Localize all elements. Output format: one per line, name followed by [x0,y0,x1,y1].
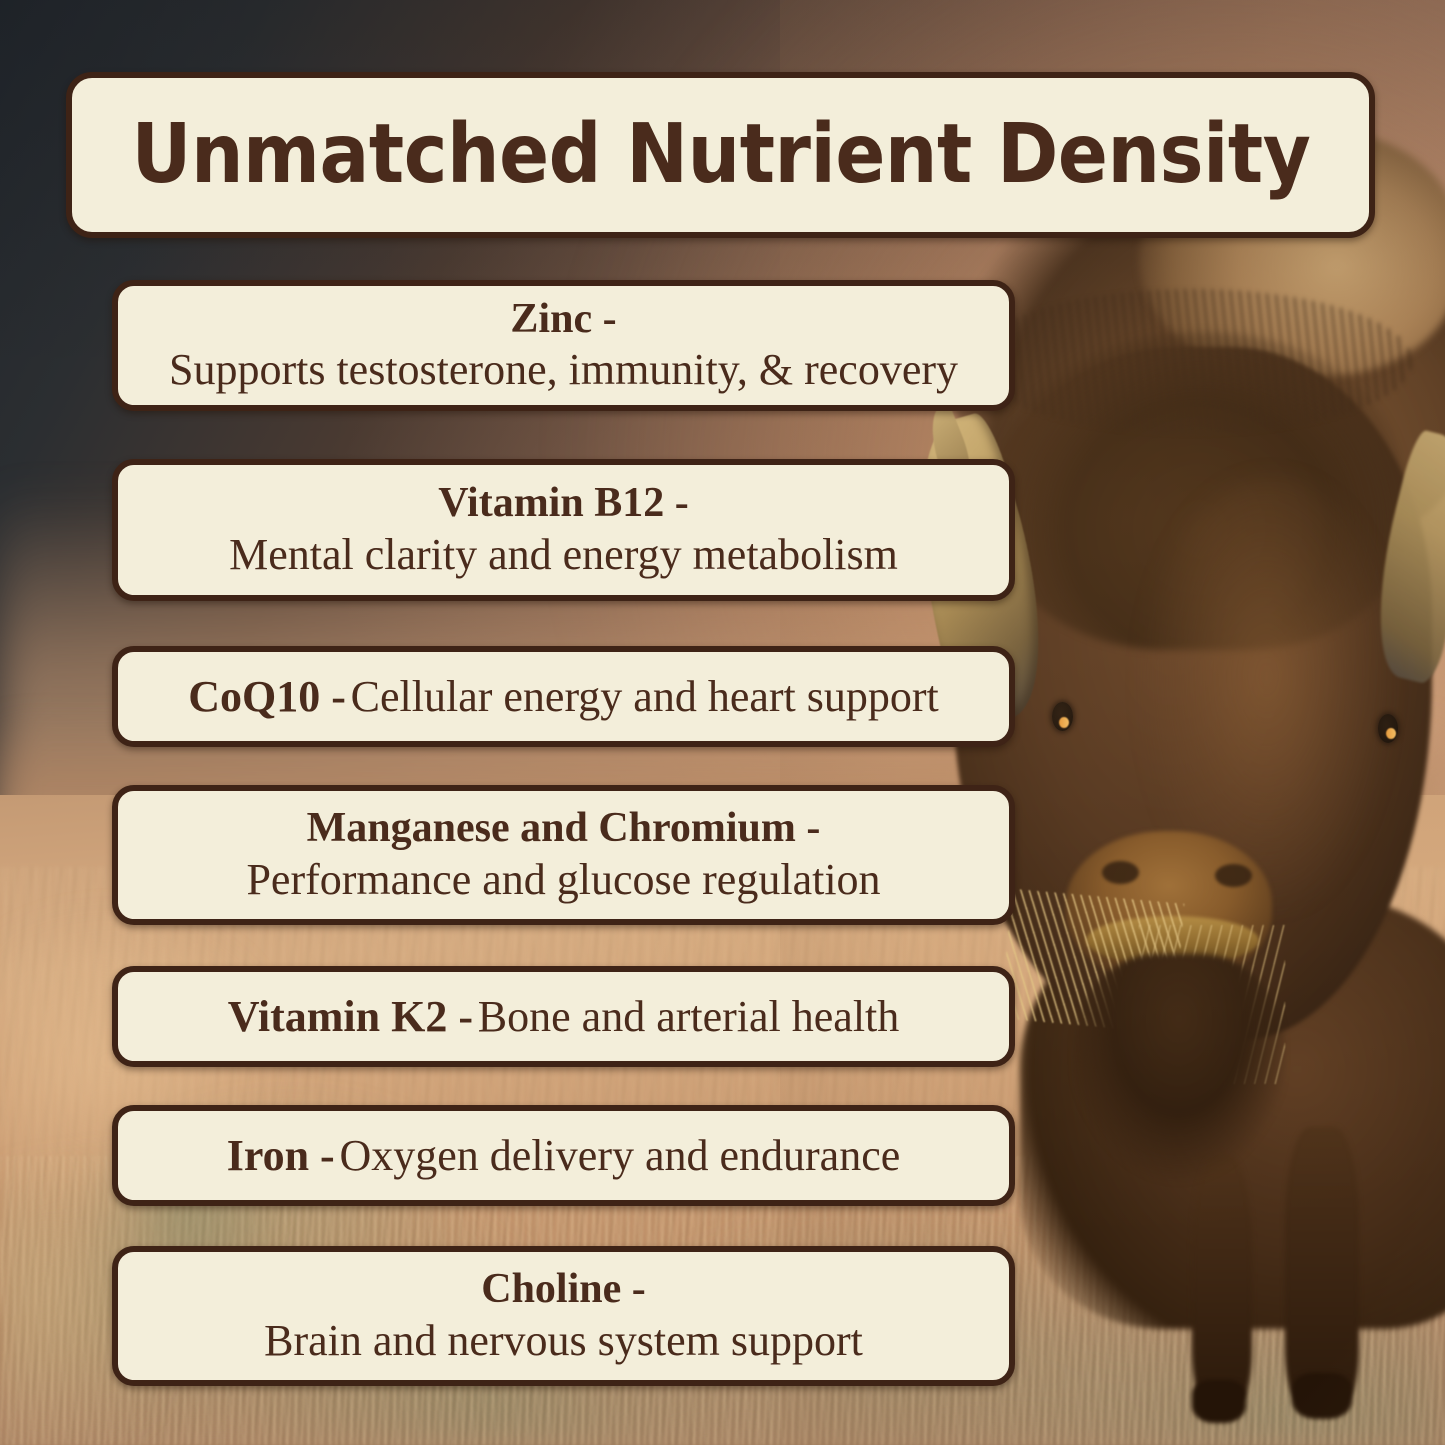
infographic-stage: Unmatched Nutrient Density Zinc - Suppor… [0,0,1445,1445]
nutrient-card-coq10: CoQ10 - Cellular energy and heart suppor… [112,646,1015,747]
nutrient-line: Iron - Oxygen delivery and endurance [227,1130,901,1181]
nutrient-label: Vitamin B12 - [438,479,688,529]
nutrient-description: Supports testosterone, immunity, & recov… [169,344,958,396]
nutrient-label: Choline - [481,1265,646,1315]
bison-hoof-right [1292,1373,1352,1419]
page-title: Unmatched Nutrient Density [131,114,1310,196]
bison-beard [1073,954,1286,1185]
nutrient-line: CoQ10 - Cellular energy and heart suppor… [188,671,939,722]
nutrient-label: CoQ10 - [188,671,346,722]
nutrient-card-manganese-chromium: Manganese and Chromium - Performance and… [112,785,1015,925]
nutrient-label: Manganese and Chromium - [307,804,821,854]
bison-hoof-left [1192,1380,1245,1423]
nutrient-description: Cellular energy and heart support [351,671,939,722]
nutrient-description: Performance and glucose regulation [246,854,880,906]
nutrient-label: Vitamin K2 - [228,991,473,1042]
nutrient-card-vitamin-k2: Vitamin K2 - Bone and arterial health [112,966,1015,1067]
nutrient-label: Iron - [227,1130,335,1181]
nutrient-description: Oxygen delivery and endurance [340,1130,901,1181]
nutrient-description: Brain and nervous system support [264,1315,863,1367]
nutrient-line: Vitamin K2 - Bone and arterial health [228,991,900,1042]
nutrient-card-vitamin-b12: Vitamin B12 - Mental clarity and energy … [112,459,1015,601]
title-card: Unmatched Nutrient Density [66,72,1375,238]
nutrient-description: Bone and arterial health [478,991,899,1042]
nutrient-card-iron: Iron - Oxygen delivery and endurance [112,1105,1015,1206]
bison-front-leg-left [1192,1156,1252,1402]
bison-eye-glint-left [1059,717,1069,728]
nutrient-card-choline: Choline - Brain and nervous system suppo… [112,1246,1015,1386]
bison-front-leg-right [1285,1127,1358,1402]
nutrient-description: Mental clarity and energy metabolism [229,529,898,581]
nutrient-card-zinc: Zinc - Supports testosterone, immunity, … [112,280,1015,411]
bison-eye-glint-right [1386,728,1396,739]
bison-hair-wisps [973,289,1412,434]
nutrient-label: Zinc - [510,295,616,345]
